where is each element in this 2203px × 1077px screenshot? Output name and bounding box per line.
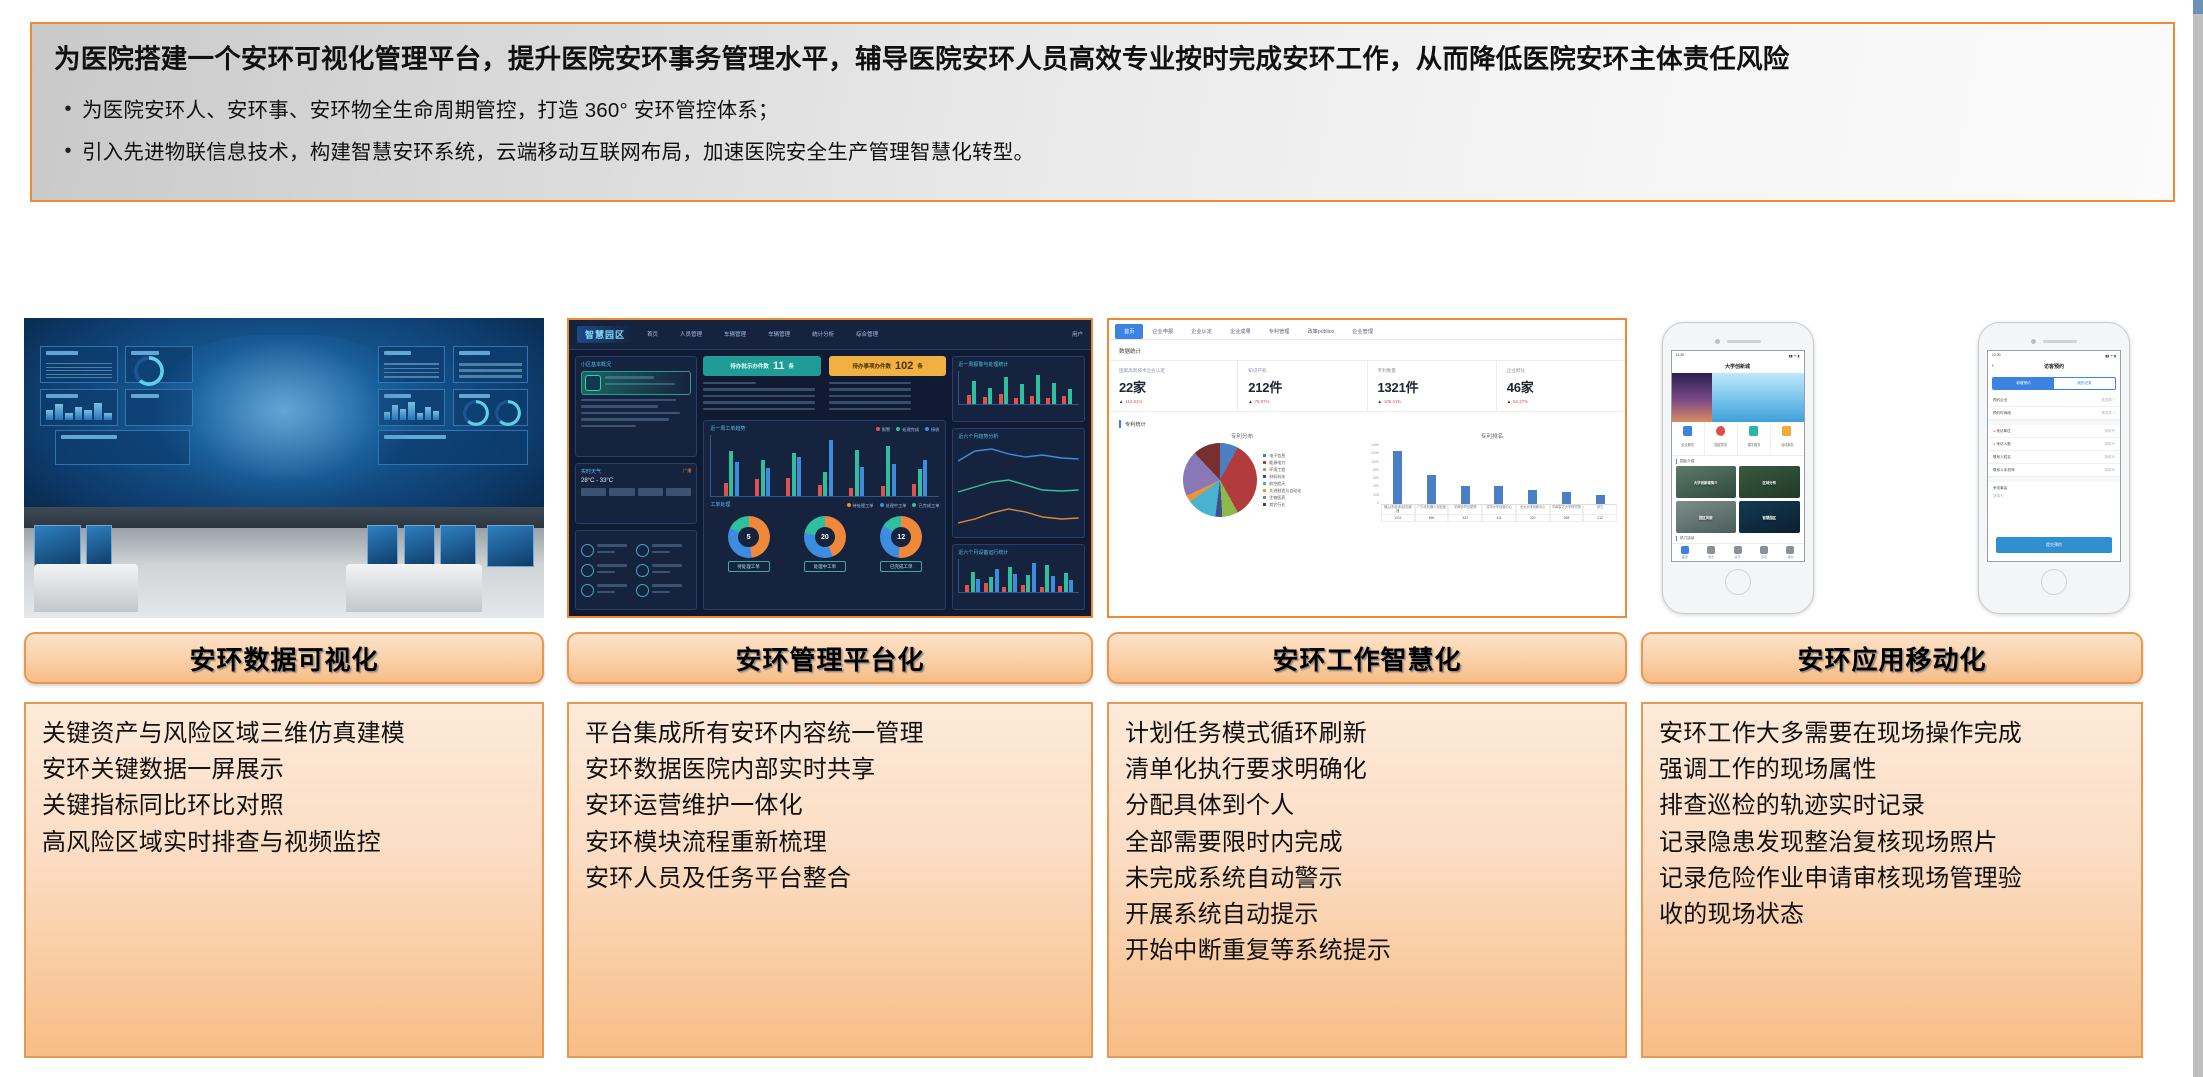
legend-item: 材料科技 xyxy=(1263,473,1302,480)
panel-title: 近六个月设备运行统计 xyxy=(958,549,1079,556)
donut-chart: 12 xyxy=(880,516,922,558)
bullet-marker-icon: • xyxy=(54,131,82,172)
trend-up-icon: ▲ xyxy=(1507,399,1511,404)
bullet-text: 为医院安环人、安环事、安环物全生命周期管控，打造 360° 安环管控体系； xyxy=(82,90,779,132)
speaker-grille xyxy=(2043,340,2077,343)
dashboard-right-column: 近一周报警与处理统计 xyxy=(952,356,1085,610)
column-title-3: 安环工作智慧化 xyxy=(1107,632,1627,684)
kpi-lists xyxy=(703,382,946,415)
stat-caption: 专利数量 xyxy=(1378,368,1486,374)
stat-value: 46家 xyxy=(1507,377,1615,396)
quick-action-signup[interactable]: 活动报名 xyxy=(1771,422,1803,455)
donut-value: 20 xyxy=(804,516,846,558)
avatar xyxy=(585,375,601,391)
thumbnail-control-room xyxy=(24,318,544,618)
activity-icon xyxy=(1760,546,1768,554)
page-edge-marker xyxy=(2193,0,2203,14)
feature-line: 关键资产与风险区域三维仿真建模 xyxy=(42,716,526,752)
nav-item[interactable]: 首页 xyxy=(647,330,658,338)
chart-title: 专利分布 xyxy=(1231,432,1253,440)
legend-item: 环境工程 xyxy=(1263,466,1302,473)
field-label: 预约时间段 xyxy=(1993,411,2011,416)
dark-dashboard-body: 小区基本概况 实时天气 xyxy=(569,350,1091,616)
bar-category-labels: 佛山(科技)科技加速器 广中省机器人实验室 华南协同创新院 清华大学创新中心 北… xyxy=(1381,505,1617,515)
feature-line: 强调工作的现场属性 xyxy=(1659,752,2125,788)
thumbnail-dark-dashboard: 智慧园区 首页 人员管理 车辆管理 车辆管理 统计分析 综合管理 用户 小区基本 xyxy=(567,318,1093,618)
stat-card: 专利数量 1321件 ▲105.41% xyxy=(1368,361,1497,411)
field-value: 请填写 xyxy=(2104,442,2115,447)
metric-icon xyxy=(636,584,649,597)
approval-list xyxy=(703,382,821,415)
home-button[interactable] xyxy=(1725,569,1751,595)
banner-photo-left xyxy=(1672,373,1713,422)
form-field-visitor-count[interactable]: 来访人数 请填写 xyxy=(1988,438,2120,451)
status-icons: ▮▮ ᯤ ▮ xyxy=(2105,353,2116,358)
right-panel-alarms: 近一周报警与处理统计 xyxy=(952,356,1085,422)
field-value: 请填写 xyxy=(2104,455,2115,460)
section-title-stats: 数据统计 xyxy=(1109,340,1625,361)
segment-new-booking[interactable]: 新增预约 xyxy=(1993,378,2054,389)
pie-legend: 电子信息 能源电力 环境工程 材料科技 航空航天 先进制造与自动化 生物医药 其… xyxy=(1263,452,1302,508)
kpi-card-pending-approvals: 待办批示办件数 11 条 xyxy=(703,356,821,376)
metric-icon xyxy=(636,544,649,557)
card-grid[interactable]: 大学创新城简介 区域分布 园区风貌 智慧园区 xyxy=(1672,466,1804,533)
feature-line: 开始中断重复等系统提示 xyxy=(1125,933,1609,969)
phone-screen: 12:30 ▮▮ ᯤ ▮ ‹ 访客预约 新增预约 我的记录 预约企业 xyxy=(1987,350,2121,562)
feature-line: 分配具体到个人 xyxy=(1125,788,1609,824)
weather-temp: 28°C - 33°C xyxy=(581,478,613,484)
metric-cell xyxy=(581,584,634,597)
thumbnail-phone-home: 12:30 ▮▮ ᯤ ▮ 大学创新城 企业服务 xyxy=(1641,318,1834,618)
operator-monitor xyxy=(86,525,112,567)
metric-icon xyxy=(581,584,594,597)
charts-row: 专利分布 电子信息 能源电力 环境工程 材料科技 航空航天 先进制造与自动化 生… xyxy=(1109,430,1625,616)
bar-chart xyxy=(1381,443,1617,505)
legend-item: 处理完成 xyxy=(896,427,919,433)
video-wall xyxy=(24,318,544,534)
metric-cell xyxy=(581,564,634,577)
legend-item: 航空航天 xyxy=(1263,480,1302,487)
feature-line: 安环人员及任务平台整合 xyxy=(585,861,1075,897)
legend-item: 待处理工单 xyxy=(847,503,874,509)
metric-icon xyxy=(636,564,649,577)
bullet-text: 引入先进物联信息技术，构建智慧安环系统，云端移动互联网布局，加速医院安全生产管理… xyxy=(82,132,1034,174)
profile-panel: 小区基本概况 xyxy=(575,356,697,458)
dashboard-nav[interactable]: 首页 人员管理 车辆管理 车辆管理 统计分析 综合管理 xyxy=(647,330,878,338)
wall-panel xyxy=(378,430,529,465)
legend-item: 处理中工单 xyxy=(880,503,907,509)
feature-line: 安环运营维护一体化 xyxy=(585,788,1075,824)
chart-title: 专利排名 xyxy=(1481,432,1503,440)
field-value: 请选择 > xyxy=(2101,398,2115,403)
operator-monitor xyxy=(367,525,398,567)
wall-panel xyxy=(125,346,193,383)
task-list xyxy=(829,382,947,415)
tab-patent-mgmt[interactable]: 专利管理 xyxy=(1260,324,1299,339)
quick-action-label: 企业服务 xyxy=(1672,438,1704,451)
profile-stats xyxy=(581,399,691,428)
feature-line: 安环数据医院内部实时共享 xyxy=(585,752,1075,788)
feature-line: 记录隐患发现整治复核现场照片 xyxy=(1659,825,2125,861)
field-value: 请选择 > xyxy=(2101,411,2115,416)
legend-item: 电子信息 xyxy=(1263,452,1302,459)
bar-value-row: 1211 655 422 411 320 268 212 xyxy=(1381,515,1617,522)
weather-panel: 实时天气 28°C - 33°C 广播 xyxy=(575,463,697,524)
home-button[interactable] xyxy=(2041,569,2067,595)
dark-dashboard-topbar: 智慧园区 首页 人员管理 车辆管理 车辆管理 统计分析 综合管理 用户 xyxy=(569,320,1091,350)
dashboard-center-column: 待办批示办件数 11 条 待办事项办件数 102 条 xyxy=(703,356,946,610)
operator-monitor xyxy=(440,525,476,567)
light-dashboard: 首页 企业申报 企业认定 企业成果 专利管理 政策público 企业管理 数据… xyxy=(1109,320,1625,616)
right-panel-trends: 近六个月趋势分析 xyxy=(952,428,1085,538)
donut-label: 待处理工单 xyxy=(728,561,770,572)
donut-value: 5 xyxy=(728,516,770,558)
chart-title: 近一周工单趋势 xyxy=(710,425,745,432)
tab-news[interactable]: 资讯 xyxy=(1724,546,1750,559)
feature-line: 高风险区域实时排查与视频监控 xyxy=(42,825,526,861)
wall-panel xyxy=(378,389,446,426)
status-bar: 12:30 ▮▮ ᯤ ▮ xyxy=(1988,351,2120,360)
wall-panel xyxy=(453,346,528,383)
feature-line: 平台集成所有安环内容统一管理 xyxy=(585,716,1075,752)
workorder-chart-panel: 近一周工单趋势 报警 处理完成 接收 xyxy=(703,420,946,610)
stat-caption: 企业孵化 xyxy=(1507,368,1615,374)
profile-row xyxy=(581,371,691,395)
operator-monitor xyxy=(487,525,534,567)
stat-value: 212件 xyxy=(1248,377,1356,396)
field-label: 来访事由 xyxy=(1993,486,2007,490)
feature-line: 计划任务模式循环刷新 xyxy=(1125,716,1609,752)
bottom-tabbar[interactable]: 首页 服务 资讯 活动 我的 xyxy=(1672,543,1804,561)
feature-line: 未完成系统自动警示 xyxy=(1125,861,1609,897)
operator-monitor xyxy=(34,525,81,567)
metric-icon xyxy=(581,564,594,577)
donut-row: 5 待处理工单 20 处理中工单 xyxy=(710,516,939,572)
pie-chart xyxy=(1183,443,1257,517)
nav-item[interactable]: 车辆管理 xyxy=(768,330,790,338)
wall-panel xyxy=(378,346,446,383)
status-time: 12:30 xyxy=(1992,353,2001,358)
form-field-contact-phone[interactable]: 联系人手机号 请填写 xyxy=(1988,464,2120,477)
form-field-reason[interactable]: 来访事由 请填写 xyxy=(1988,482,2120,503)
operator-desk xyxy=(346,564,481,612)
donut-chart: 20 xyxy=(804,516,846,558)
scissors-icon xyxy=(1782,426,1792,436)
kpi-label: 待办事项办件数 xyxy=(852,362,891,370)
bar-group xyxy=(724,435,739,496)
tab-service[interactable]: 服务 xyxy=(1698,546,1724,559)
bar-group xyxy=(755,435,770,496)
field-value: 请填写 xyxy=(2104,429,2115,434)
segmented-control[interactable]: 新增预约 我的记录 xyxy=(1992,377,2116,390)
grid-card[interactable]: 园区风貌 xyxy=(1676,501,1737,533)
app-title: ‹ 访客预约 xyxy=(1988,360,2120,373)
kpi-value: 102 xyxy=(895,360,913,372)
page-edge-strip xyxy=(2193,0,2203,1077)
wall-panel xyxy=(453,389,528,426)
column-title-2: 安环管理平台化 xyxy=(567,632,1093,684)
tab-enterprise-mgmt[interactable]: 企业管理 xyxy=(1343,324,1382,339)
operator-monitor xyxy=(404,525,435,567)
field-placeholder: 请填写 xyxy=(1993,494,2115,499)
feature-line: 开展系统自动提示 xyxy=(1125,897,1609,933)
grouped-bar-chart xyxy=(710,435,939,497)
pie-chart-block: 专利分布 电子信息 能源电力 环境工程 材料科技 航空航天 先进制造与自动化 生… xyxy=(1117,432,1367,610)
donut-card: 12 已完成工单 xyxy=(880,516,922,572)
right-panel-devices: 近六个月设备运行统计 xyxy=(952,544,1085,610)
donut-chart: 5 xyxy=(728,516,770,558)
wall-panel xyxy=(125,389,193,426)
bullet-item: • 为医院安环人、安环事、安环物全生命周期管控，打造 360° 安环管控体系； xyxy=(54,90,2151,132)
metric-cell xyxy=(636,584,689,597)
thumbnail-phone-form: 12:30 ▮▮ ᯤ ▮ ‹ 访客预约 新增预约 我的记录 预约企业 xyxy=(1965,318,2143,618)
feature-line: 记录危险作业申请审核现场管理验 xyxy=(1659,861,2125,897)
nav-item[interactable]: 综合管理 xyxy=(856,330,878,338)
speaker-grille xyxy=(1727,340,1761,343)
y-axis-ticks: 1400 1200 1000 800 600 400 200 0 xyxy=(1371,443,1381,505)
grid-card[interactable]: 大学创新城简介 xyxy=(1676,466,1737,498)
stat-card: 知识产权 212件 ▲79.07% xyxy=(1238,361,1367,411)
screenshot-strip: 智慧园区 首页 人员管理 车辆管理 车辆管理 统计分析 综合管理 用户 小区基本 xyxy=(0,318,2203,618)
panel-title: 实时天气 xyxy=(581,468,613,475)
panel-title: 近六个月趋势分析 xyxy=(958,433,1079,440)
status-icons: ▮▮ ᯤ ▮ xyxy=(1789,353,1800,358)
user-icon xyxy=(1683,426,1693,436)
trend-up-icon: ▲ xyxy=(1248,399,1252,404)
bar-group xyxy=(881,435,896,496)
column-body-2: 平台集成所有安环内容统一管理 安环数据医院内部实时共享 安环运营维护一体化 安环… xyxy=(567,702,1093,1058)
phone-device: 12:30 ▮▮ ᯤ ▮ 大学创新城 企业服务 xyxy=(1662,322,1814,614)
bar-group xyxy=(849,435,864,496)
profile-icon xyxy=(1786,546,1794,554)
quick-actions[interactable]: 企业服务 园区导览 楼宇租赁 xyxy=(1672,422,1804,456)
quick-action-enterprise-service[interactable]: 企业服务 xyxy=(1672,422,1705,455)
stat-caption: 知识产权 xyxy=(1248,368,1356,374)
user-menu[interactable]: 用户 xyxy=(1072,330,1083,338)
tab-home[interactable]: 首页 xyxy=(1672,546,1698,559)
form-field-contact-name[interactable]: 联系人姓名 请填写 xyxy=(1988,451,2120,464)
column-body-1: 关键资产与风险区域三维仿真建模 安环关键数据一屏展示 关键指标同比环比对照 高风… xyxy=(24,702,544,1058)
column-title-1: 安环数据可视化 xyxy=(24,632,544,684)
wall-panel xyxy=(40,346,118,383)
phone-device: 12:30 ▮▮ ᯤ ▮ ‹ 访客预约 新增预约 我的记录 预约企业 xyxy=(1978,322,2130,614)
trend-up-icon: ▲ xyxy=(1378,399,1382,404)
bullet-marker-icon: • xyxy=(54,89,82,130)
feature-line: 安环关键数据一屏展示 xyxy=(42,752,526,788)
camera-icon xyxy=(2031,339,2036,344)
operator-desk xyxy=(34,564,138,612)
stat-card: 国家高新技术企业认定 22家 ▲112.61% xyxy=(1109,361,1238,411)
bullet-item: • 引入先进物联信息技术，构建智慧安环系统，云端移动互联网布局，加速医院安全生产… xyxy=(54,132,2151,174)
tab-policy[interactable]: 政策público xyxy=(1298,324,1343,339)
dashboard-tabbar[interactable]: 首页 企业申报 企业认定 企业成果 专利管理 政策público 企业管理 xyxy=(1109,320,1625,340)
tab-profile[interactable]: 我的 xyxy=(1777,546,1803,559)
field-label: 联系人手机号 xyxy=(1993,468,2015,473)
kpi-label: 待办批示办件数 xyxy=(730,362,769,370)
grid-card[interactable]: 智慧园区 xyxy=(1739,501,1800,533)
legend-item: 接收 xyxy=(925,427,939,433)
donut-label: 已完成工单 xyxy=(880,561,922,572)
feature-line: 全部需要限时内完成 xyxy=(1125,825,1609,861)
feature-line: 排查巡检的轨迹实时记录 xyxy=(1659,788,2125,824)
chevron-left-icon[interactable]: ‹ xyxy=(1992,363,1994,369)
donut-label: 处理中工单 xyxy=(804,561,846,572)
metric-cell xyxy=(636,564,689,577)
banner-image[interactable] xyxy=(1672,373,1804,422)
dark-dashboard: 智慧园区 首页 人员管理 车辆管理 车辆管理 统计分析 综合管理 用户 小区基本 xyxy=(569,320,1091,616)
metric-cell xyxy=(581,544,634,557)
field-label: 来访人数 xyxy=(1993,442,2011,447)
nav-item[interactable]: 车辆管理 xyxy=(724,330,746,338)
donut-legend: 待处理工单 处理中工单 已完成工单 xyxy=(847,503,940,509)
section-title-patents: 专利统计 xyxy=(1109,412,1625,430)
feature-line: 清单化执行要求明确化 xyxy=(1125,752,1609,788)
stat-change: ▲112.61% xyxy=(1119,399,1227,404)
nav-item[interactable]: 统计分析 xyxy=(812,330,834,338)
chart-legend: 报警 处理完成 接收 xyxy=(876,427,940,433)
status-time: 12:30 xyxy=(1676,353,1685,358)
sparkline-blue xyxy=(958,443,1079,469)
kpi-row: 待办批示办件数 11 条 待办事项办件数 102 条 xyxy=(703,356,946,376)
weather-tag: 广播 xyxy=(683,468,691,474)
quick-metrics-panel xyxy=(575,530,697,610)
kpi-card-pending-tasks: 待办事项办件数 102 条 xyxy=(829,356,947,376)
wall-panel xyxy=(40,389,118,426)
stat-change: ▲105.41% xyxy=(1378,399,1486,404)
section-title-events: 热门活动 xyxy=(1672,533,1804,543)
field-label: 联系人姓名 xyxy=(1993,455,2011,460)
panel-title xyxy=(581,535,691,541)
sparkline-green xyxy=(958,473,1079,499)
home-icon xyxy=(1681,546,1689,554)
quick-action-leasing[interactable]: 楼宇租赁 xyxy=(1738,422,1771,455)
column-body-3: 计划任务模式循环刷新 清单化执行要求明确化 分配具体到个人 全部需要限时内完成 … xyxy=(1107,702,1627,1058)
submit-button[interactable]: 提交预约 xyxy=(1996,537,2112,553)
legend-item: 其它行业 xyxy=(1263,501,1302,508)
panel-title: 小区基本概况 xyxy=(581,361,691,368)
field-label: 来访单位 xyxy=(1993,429,2011,434)
kpi-unit: 条 xyxy=(788,362,794,370)
header-bullet-list: • 为医院安环人、安环事、安环物全生命周期管控，打造 360° 安环管控体系； … xyxy=(54,90,2151,174)
layers-icon xyxy=(1749,426,1759,436)
donut-card: 20 处理中工单 xyxy=(804,516,846,572)
tab-enterprise-apply[interactable]: 企业申报 xyxy=(1143,324,1182,339)
donut-card: 5 待处理工单 xyxy=(728,516,770,572)
news-icon xyxy=(1734,546,1742,554)
sparkline-orange xyxy=(958,503,1079,529)
metric-icon xyxy=(581,544,594,557)
metric-cell xyxy=(636,544,689,557)
legend-item: 报警 xyxy=(876,427,890,433)
stat-change: ▲79.07% xyxy=(1248,399,1356,404)
stat-value: 22家 xyxy=(1119,377,1227,396)
stat-cards: 国家高新技术企业认定 22家 ▲112.61% 知识产权 212件 ▲79.07… xyxy=(1109,361,1625,412)
kpi-unit: 条 xyxy=(917,362,923,370)
legend-item: 已完成工单 xyxy=(912,503,939,509)
tab-home[interactable]: 首页 xyxy=(1115,324,1143,339)
legend-item: 先进制造与自动化 xyxy=(1263,487,1302,494)
header-banner: 为医院搭建一个安环可视化管理平台，提升医院安环事务管理水平，辅导医院安环人员高效… xyxy=(30,22,2175,202)
feature-line: 收的现场状态 xyxy=(1659,897,2125,933)
mini-bar-chart xyxy=(958,371,1079,405)
feature-line: 关键指标同比环比对照 xyxy=(42,788,526,824)
page-title: 为医院搭建一个安环可视化管理平台，提升医院安环事务管理水平，辅导医院安环人员高效… xyxy=(54,38,2151,81)
bar-chart-block: 专利排名 1400 1200 1000 800 600 400 200 0 xyxy=(1367,432,1617,610)
tab-activity[interactable]: 活动 xyxy=(1751,546,1777,559)
slide-root: 为医院搭建一个安环可视化管理平台，提升医院安环事务管理水平，辅导医院安环人员高效… xyxy=(0,0,2203,1077)
tab-enterprise-results[interactable]: 企业成果 xyxy=(1221,324,1260,339)
column-title-4: 安环应用移动化 xyxy=(1641,632,2143,684)
form-field-visitor-org[interactable]: 来访单位 请填写 xyxy=(1988,425,2120,438)
quick-action-label: 活动报名 xyxy=(1771,438,1803,451)
segment-my-records[interactable]: 我的记录 xyxy=(2054,378,2115,389)
nav-item[interactable]: 人员管理 xyxy=(680,330,702,338)
status-bar: 12:30 ▮▮ ᯤ ▮ xyxy=(1672,351,1804,360)
camera-icon xyxy=(1715,339,1720,344)
dashboard-logo: 智慧园区 xyxy=(577,326,633,343)
trend-up-icon: ▲ xyxy=(1119,399,1123,404)
bar-group xyxy=(786,435,801,496)
panel-title: 近一周报警与处理统计 xyxy=(958,361,1079,368)
quick-action-label: 楼宇租赁 xyxy=(1738,438,1770,451)
stat-value: 1321件 xyxy=(1378,377,1486,396)
feature-line: 安环工作大多需要在现场操作完成 xyxy=(1659,716,2125,752)
stat-card: 企业孵化 46家 ▲52.27% xyxy=(1497,361,1625,411)
profile-lines xyxy=(605,376,687,389)
weather-metrics xyxy=(581,488,691,500)
service-icon xyxy=(1707,546,1715,554)
stat-change: ▲52.27% xyxy=(1507,399,1615,404)
bar-group xyxy=(912,435,927,496)
section-title-intro: 园区介绍 xyxy=(1672,456,1804,466)
wall-panel xyxy=(55,430,190,465)
donut-value: 12 xyxy=(880,516,922,558)
feature-line: 安环模块流程重新梳理 xyxy=(585,825,1075,861)
thumbnail-light-dashboard: 首页 企业申报 企业认定 企业成果 专利管理 政策público 企业管理 数据… xyxy=(1107,318,1627,618)
field-value: 请填写 xyxy=(2104,468,2115,473)
legend-item: 能源电力 xyxy=(1263,459,1302,466)
stat-caption: 国家高新技术企业认定 xyxy=(1119,368,1227,374)
control-room-photo xyxy=(24,318,544,618)
navigate-icon xyxy=(1716,426,1726,436)
quick-action-park-guide[interactable]: 园区导览 xyxy=(1705,422,1738,455)
dashboard-left-column: 小区基本概况 实时天气 xyxy=(575,356,697,610)
phone-screen: 12:30 ▮▮ ᯤ ▮ 大学创新城 企业服务 xyxy=(1671,350,1805,562)
quick-action-label: 园区导览 xyxy=(1705,438,1737,451)
form-field-company[interactable]: 预约企业 请选择 > xyxy=(1988,394,2120,407)
field-label: 预约企业 xyxy=(1993,398,2007,403)
mini-bar-chart xyxy=(958,559,1079,593)
form-field-timeslot[interactable]: 预约时间段 请选择 > xyxy=(1988,407,2120,420)
column-body-4: 安环工作大多需要在现场操作完成 强调工作的现场属性 排查巡检的轨迹实时记录 记录… xyxy=(1641,702,2143,1058)
bar-group xyxy=(818,435,833,496)
donut-section-title: 工单处理 xyxy=(710,501,730,508)
kpi-value: 11 xyxy=(773,360,785,372)
legend-item: 生物医药 xyxy=(1263,494,1302,501)
app-title: 大学创新城 xyxy=(1672,360,1804,373)
banner-photo-right xyxy=(1712,373,1803,422)
tab-enterprise-cert[interactable]: 企业认定 xyxy=(1182,324,1221,339)
grid-card[interactable]: 区域分布 xyxy=(1739,466,1800,498)
